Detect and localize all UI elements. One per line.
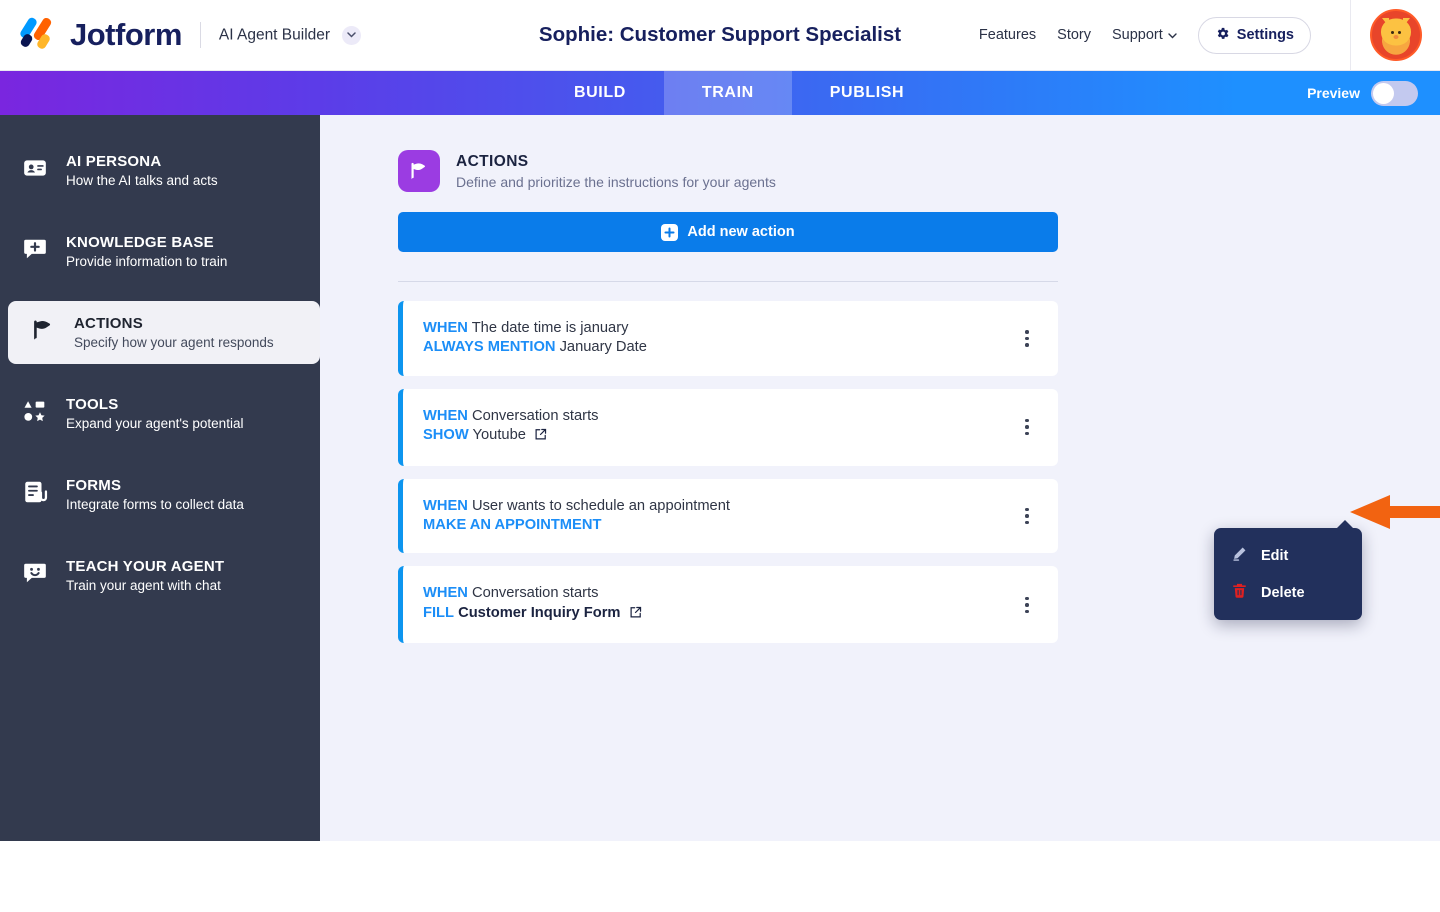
sidebar-item-label: TOOLS [66,396,243,413]
action-card[interactable]: WHEN The date time is january ALWAYS MEN… [398,301,1058,376]
pencil-icon [1231,545,1248,566]
external-link-icon[interactable] [629,606,642,625]
action-label: MAKE AN APPOINTMENT [423,517,601,533]
chat-smile-icon [22,560,48,586]
sidebar-item-subtitle: Expand your agent's potential [66,416,243,431]
sidebar-item-label: FORMS [66,477,244,494]
tab-build[interactable]: BUILD [536,71,664,115]
preview-label: Preview [1307,85,1360,101]
tab-list: BUILD TRAIN PUBLISH [536,71,942,115]
when-text: Conversation starts [472,408,599,424]
mode-tabbar: BUILD TRAIN PUBLISH Preview [0,71,1440,115]
add-new-action-button[interactable]: Add new action [398,212,1058,252]
action-label: FILL [423,605,454,621]
flag-icon [30,317,56,343]
context-menu-edit-label: Edit [1261,548,1288,564]
chat-plus-icon [22,236,48,262]
sidebar-item-actions[interactable]: ACTIONS Specify how your agent responds [8,301,320,364]
actions-section-header: ACTIONS Define and prioritize the instru… [398,150,1440,192]
when-label: WHEN [423,585,468,601]
arrow-annotation-icon [1350,495,1440,534]
kebab-menu-icon[interactable] [1016,327,1038,349]
sidebar-item-tools[interactable]: TOOLS Expand your agent's potential [0,382,320,445]
preview-toggle[interactable] [1371,81,1418,106]
trash-icon [1231,582,1248,603]
user-avatar-cat-icon [1370,9,1422,61]
settings-button[interactable]: Settings [1198,17,1311,54]
sidebar-item-label: AI PERSONA [66,153,218,170]
sidebar-item-subtitle: Train your agent with chat [66,578,224,593]
when-text: Conversation starts [472,585,599,601]
action-text: January Date [560,339,647,355]
sidebar-item-ai-persona[interactable]: AI PERSONA How the AI talks and acts [0,139,320,202]
product-selector[interactable]: AI Agent Builder [219,26,361,45]
gear-icon [1215,26,1230,45]
settings-button-label: Settings [1237,27,1294,43]
id-card-icon [22,155,48,181]
chevron-down-icon [1168,27,1177,43]
context-menu-edit[interactable]: Edit [1214,537,1362,574]
kebab-menu-icon[interactable] [1016,505,1038,527]
sidebar-item-teach-your-agent[interactable]: TEACH YOUR AGENT Train your agent with c… [0,544,320,607]
action-text: Customer Inquiry Form [458,605,620,621]
action-text: Youtube [473,427,526,443]
section-title: ACTIONS [456,153,776,171]
nav-link-support-label: Support [1112,27,1163,43]
chevron-down-icon [342,26,361,45]
nav-link-features[interactable]: Features [979,27,1036,43]
brand[interactable]: Jotform [22,17,182,53]
when-label: WHEN [423,408,468,424]
context-menu-delete[interactable]: Delete [1214,574,1362,611]
section-divider [398,281,1058,282]
when-text: The date time is january [472,320,629,336]
action-context-menu: Edit Delete [1214,528,1362,620]
sidebar-item-subtitle: Integrate forms to collect data [66,497,244,512]
external-link-icon[interactable] [534,428,547,447]
when-label: WHEN [423,320,468,336]
sidebar-item-label: KNOWLEDGE BASE [66,234,227,251]
main-content: ACTIONS Define and prioritize the instru… [320,115,1440,841]
brand-name: Jotform [70,17,182,53]
nav-link-story[interactable]: Story [1057,27,1091,43]
kebab-menu-icon[interactable] [1016,416,1038,438]
top-header: Jotform AI Agent Builder Sophie: Custome… [0,0,1440,71]
jotform-logo-icon [22,17,62,53]
sidebar-item-label: ACTIONS [74,315,274,332]
flag-icon [398,150,440,192]
action-label: ALWAYS MENTION [423,339,555,355]
action-card[interactable]: WHEN Conversation starts FILL Customer I… [398,566,1058,643]
sidebar-item-subtitle: Specify how your agent responds [74,335,274,350]
add-new-action-label: Add new action [687,224,794,240]
preview-control: Preview [1307,71,1440,115]
section-subtitle: Define and prioritize the instructions f… [456,174,776,190]
avatar-container[interactable] [1350,0,1440,71]
nav-link-support[interactable]: Support [1112,27,1177,43]
form-document-icon [22,479,48,505]
plus-icon [661,224,678,241]
kebab-menu-icon[interactable] [1016,594,1038,616]
sidebar: AI PERSONA How the AI talks and acts KNO… [0,115,320,841]
context-menu-delete-label: Delete [1261,585,1305,601]
action-card[interactable]: WHEN Conversation starts SHOW Youtube [398,389,1058,466]
shapes-icon [22,398,48,424]
tab-publish[interactable]: PUBLISH [792,71,942,115]
header-nav: Features Story Support Settings [979,0,1440,71]
sidebar-item-subtitle: How the AI talks and acts [66,173,218,188]
action-label: SHOW [423,427,469,443]
action-card[interactable]: WHEN User wants to schedule an appointme… [398,479,1058,554]
product-name: AI Agent Builder [219,26,330,43]
tab-train[interactable]: TRAIN [664,71,792,115]
sidebar-item-knowledge-base[interactable]: KNOWLEDGE BASE Provide information to tr… [0,220,320,283]
when-label: WHEN [423,498,468,514]
sidebar-item-label: TEACH YOUR AGENT [66,558,224,575]
sidebar-item-forms[interactable]: FORMS Integrate forms to collect data [0,463,320,526]
when-text: User wants to schedule an appointment [472,498,730,514]
header-divider [200,22,201,48]
sidebar-item-subtitle: Provide information to train [66,254,227,269]
action-card-list: WHEN The date time is january ALWAYS MEN… [398,301,1058,643]
